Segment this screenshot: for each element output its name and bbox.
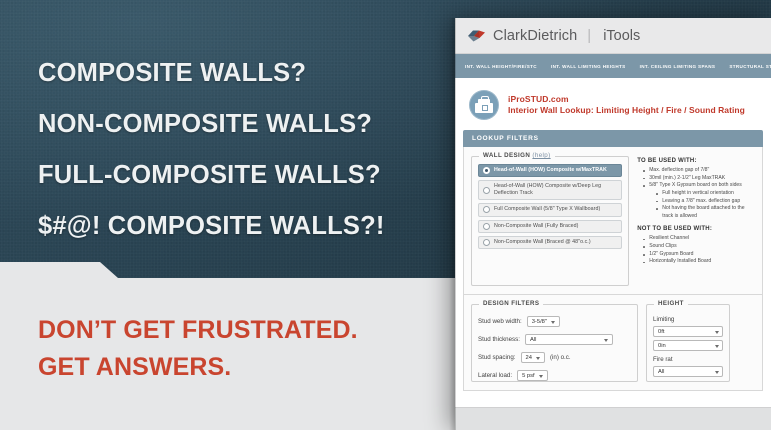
promo-headline-1: COMPOSITE WALLS? — [38, 48, 385, 99]
window-bottom-bar — [455, 407, 771, 430]
radio-label: Head-of-Wall (HOW) Composite w/Deep Leg … — [494, 183, 617, 197]
lookup-site-name: iProSTUD.com — [508, 94, 745, 105]
list-item: Leaving a 7/8" max. deflection gap — [658, 198, 755, 206]
lookup-header-text: iProSTUD.com Interior Wall Lookup: Limit… — [508, 94, 745, 115]
radio-how-composite-deep-leg[interactable]: Head-of-Wall (HOW) Composite w/Deep Leg … — [478, 180, 622, 200]
radio-dot-icon — [483, 239, 490, 246]
tab-int-wall-height-fire-stc[interactable]: INT. WALL HEIGHT/FIRE/STC — [465, 64, 537, 69]
field-stud-spacing: Stud spacing: 24 (in) o.c. — [478, 352, 631, 363]
screenshot-stage: COMPOSITE WALLS? NON-COMPOSITE WALLS? FU… — [0, 0, 771, 430]
radio-dot-icon — [483, 187, 490, 194]
radio-dot-icon — [483, 223, 490, 230]
promo-headline-4: $#@! COMPOSITE WALLS?! — [38, 201, 385, 252]
radio-non-composite-fully-braced[interactable]: Non-Composite Wall (Fully Braced) — [478, 220, 622, 233]
promo-subhead-1: DON’T GET FRUSTRATED. — [38, 312, 358, 349]
promo-headline-2: NON-COMPOSITE WALLS? — [38, 99, 385, 150]
radio-dot-selected-icon — [483, 167, 490, 174]
stud-thickness-select[interactable]: All — [525, 334, 613, 345]
itools-app-window: ClarkDietrich | iTools INT. WALL HEIGHT/… — [455, 18, 771, 430]
tab-int-ceiling-limiting-spans[interactable]: INT. CEILING LIMITING SPANS — [640, 64, 716, 69]
wall-design-help-link[interactable]: (help) — [532, 152, 550, 159]
to-be-used-with-title: TO BE USED WITH: — [637, 158, 755, 164]
radio-label: Head-of-Wall (HOW) Composite w/MaxTRAK — [494, 167, 607, 174]
limiting-height-feet-input[interactable]: 0ft — [653, 326, 723, 337]
field-stud-thickness: Stud thickness: All — [478, 334, 631, 345]
brand-name: ClarkDietrich — [493, 28, 577, 44]
list-item: Resilient Channel — [645, 235, 755, 243]
tab-structural-stud[interactable]: STRUCTURAL STUD — [729, 64, 771, 69]
toolbox-icon — [469, 90, 499, 120]
brand-divider: | — [587, 27, 591, 44]
lookup-filters-panel: WALL DESIGN (help) Head-of-Wall (HOW) Co… — [463, 147, 763, 295]
to-be-used-with-list: Max. deflection gap of 7/8" 30mil (min.)… — [637, 167, 755, 220]
not-to-be-used-with-title: NOT TO BE USED WITH: — [637, 226, 755, 232]
promo-subhead-2: GET ANSWERS. — [38, 349, 358, 386]
fire-rating-label: Fire rat — [653, 356, 723, 363]
radio-label: Non-Composite Wall (Braced @ 48"o.c.) — [494, 239, 591, 246]
list-item: 5/8" Type X Gypsum board on both sides F… — [645, 182, 755, 220]
field-lateral-load: Lateral load: 5 psf — [478, 370, 631, 381]
promo-headline-3: FULL-COMPOSITE WALLS? — [38, 150, 385, 201]
to-be-used-with-sublist: Full height in vertical orientation Leav… — [649, 190, 755, 221]
list-item: 1/2" Gypsum Board — [645, 251, 755, 259]
list-item: Sound Clips — [645, 243, 755, 251]
fire-rating-group: Fire rat All — [653, 356, 723, 377]
height-legend: HEIGHT — [654, 300, 688, 307]
field-stud-web-width: Stud web width: 3-5/8" — [478, 316, 631, 327]
stud-spacing-unit: (in) o.c. — [550, 354, 571, 361]
usage-notes: TO BE USED WITH: Max. deflection gap of … — [637, 156, 755, 286]
limiting-height-group: Limiting 0ft 0in — [653, 316, 723, 351]
radio-full-composite-wall[interactable]: Full Composite Wall (5/8" Type X Wallboa… — [478, 203, 622, 216]
lookup-title: Interior Wall Lookup: Limiting Height / … — [508, 105, 745, 116]
promo-subhead-group: DON’T GET FRUSTRATED. GET ANSWERS. — [38, 312, 358, 386]
lateral-load-select[interactable]: 5 psf — [517, 370, 548, 381]
radio-how-composite-maxtrak[interactable]: Head-of-Wall (HOW) Composite w/MaxTRAK — [478, 164, 622, 177]
radio-label: Full Composite Wall (5/8" Type X Wallboa… — [494, 206, 600, 213]
lookup-filters-label: LOOKUP FILTERS — [472, 135, 539, 142]
brand-lockup[interactable]: ClarkDietrich | iTools — [467, 27, 640, 44]
field-label: Lateral load: — [478, 372, 512, 379]
brand-product: iTools — [603, 28, 640, 44]
design-filters-fieldset: DESIGN FILTERS Stud web width: 3-5/8" St… — [471, 304, 638, 382]
field-label: Stud thickness: — [478, 336, 520, 343]
design-filters-legend: DESIGN FILTERS — [479, 300, 543, 307]
lookup-header: iProSTUD.com Interior Wall Lookup: Limit… — [455, 78, 771, 130]
list-item-text: 5/8" Type X Gypsum board on both sides — [649, 182, 742, 188]
field-label: Stud spacing: — [478, 354, 516, 361]
radio-non-composite-braced-48[interactable]: Non-Composite Wall (Braced @ 48"o.c.) — [478, 236, 622, 249]
stud-web-width-select[interactable]: 3-5/8" — [527, 316, 560, 327]
list-item: 30mil (min.) 2-1/2" Leg MaxTRAK — [645, 175, 755, 183]
list-item: Not having the board attached to the tra… — [658, 205, 755, 220]
main-nav-tabs[interactable]: INT. WALL HEIGHT/FIRE/STC INT. WALL LIMI… — [455, 54, 771, 78]
wall-design-legend: WALL DESIGN (help) — [479, 152, 555, 159]
fire-rating-select[interactable]: All — [653, 366, 723, 377]
limiting-height-inches-input[interactable]: 0in — [653, 340, 723, 351]
list-item: Horizontally Installed Board — [645, 258, 755, 266]
promo-headline-group: COMPOSITE WALLS? NON-COMPOSITE WALLS? FU… — [38, 48, 385, 252]
design-filters-panel: DESIGN FILTERS Stud web width: 3-5/8" St… — [463, 295, 763, 391]
height-fieldset: HEIGHT Limiting 0ft 0in Fire rat All — [646, 304, 730, 382]
app-header-bar: ClarkDietrich | iTools — [455, 18, 771, 54]
limiting-height-label: Limiting — [653, 316, 723, 323]
radio-label: Non-Composite Wall (Fully Braced) — [494, 223, 578, 230]
wall-design-fieldset: WALL DESIGN (help) Head-of-Wall (HOW) Co… — [471, 156, 629, 286]
radio-dot-icon — [483, 206, 490, 213]
lookup-filters-bar: LOOKUP FILTERS — [463, 130, 763, 147]
list-item: Max. deflection gap of 7/8" — [645, 167, 755, 175]
not-to-be-used-with-list: Resilient Channel Sound Clips 1/2" Gypsu… — [637, 235, 755, 266]
clarkdietrich-diamond-logo-icon — [467, 28, 486, 44]
wall-design-legend-text: WALL DESIGN — [483, 152, 530, 159]
stud-spacing-select[interactable]: 24 — [521, 352, 545, 363]
tab-int-wall-limiting-heights[interactable]: INT. WALL LIMITING HEIGHTS — [551, 64, 626, 69]
list-item: Full height in vertical orientation — [658, 190, 755, 198]
field-label: Stud web width: — [478, 318, 522, 325]
